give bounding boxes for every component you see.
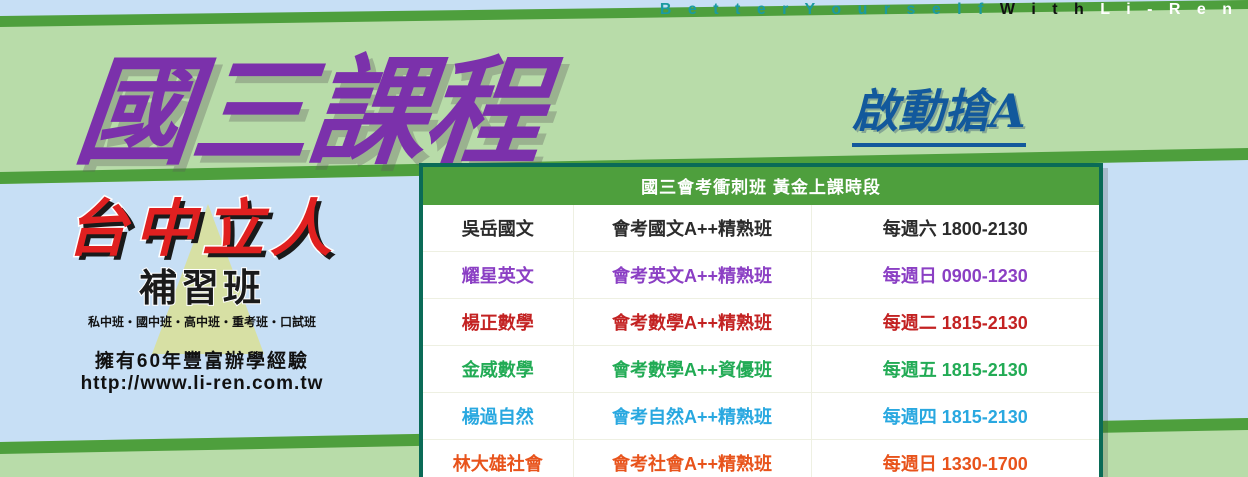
tagline-part-li-ren: L i - R e n bbox=[1100, 1, 1238, 18]
schedule-cell-teacher: 耀星英文 bbox=[423, 252, 573, 299]
schedule-cell-course: 會考社會A++精熟班 bbox=[573, 440, 811, 477]
logo-course-list: 私中班・國中班・高中班・重考班・口試班 bbox=[22, 313, 382, 330]
schedule-cell-teacher: 金威數學 bbox=[423, 346, 573, 393]
page-subtitle: 啟動搶A bbox=[852, 75, 1026, 147]
table-row: 耀星英文會考英文A++精熟班每週日 0900-1230 bbox=[423, 252, 1099, 299]
table-row: 金威數學會考數學A++資優班每週五 1815-2130 bbox=[423, 346, 1099, 393]
schedule-cell-course: 會考國文A++精熟班 bbox=[573, 205, 811, 252]
promo-banner: B e t t e r Y o u r s e l f W i t h L i … bbox=[0, 0, 1248, 477]
schedule-cell-course: 會考數學A++精熟班 bbox=[573, 299, 811, 346]
schedule-cell-teacher: 楊正數學 bbox=[423, 299, 573, 346]
schedule-header-title: 國三會考衝刺班 黃金上課時段 bbox=[423, 167, 1099, 205]
schedule-table-body: 吳岳國文會考國文A++精熟班每週六 1800-2130耀星英文會考英文A++精熟… bbox=[423, 205, 1099, 477]
logo-school-name: 台中立人 bbox=[22, 196, 382, 261]
schedule-cell-teacher: 楊過自然 bbox=[423, 393, 573, 440]
logo-experience: 擁有60年豐富辦學經驗 bbox=[22, 346, 382, 373]
page-title: 國三課程 bbox=[69, 16, 551, 187]
table-row: 吳岳國文會考國文A++精熟班每週六 1800-2130 bbox=[423, 205, 1099, 252]
schedule-cell-course: 會考自然A++精熟班 bbox=[573, 393, 811, 440]
brand-tagline: B e t t e r Y o u r s e l f W i t h L i … bbox=[660, 1, 1238, 19]
tagline-part-better-yourself: B e t t e r Y o u r s e l f bbox=[660, 1, 989, 18]
schedule-cell-teacher: 吳岳國文 bbox=[423, 205, 573, 252]
schedule-cell-teacher: 林大雄社會 bbox=[423, 440, 573, 477]
logo-website-url[interactable]: http://www.li-ren.com.tw bbox=[22, 373, 382, 395]
schedule-cell-time: 每週二 1815-2130 bbox=[811, 299, 1099, 346]
table-row: 林大雄社會會考社會A++精熟班每週日 1330-1700 bbox=[423, 440, 1099, 477]
schedule-header-row: 國三會考衝刺班 黃金上課時段 bbox=[423, 167, 1099, 205]
schedule-cell-time: 每週日 1330-1700 bbox=[811, 440, 1099, 477]
schedule-cell-course: 會考數學A++資優班 bbox=[573, 346, 811, 393]
schedule-cell-time: 每週四 1815-2130 bbox=[811, 393, 1099, 440]
schedule-table: 國三會考衝刺班 黃金上課時段 吳岳國文會考國文A++精熟班每週六 1800-21… bbox=[423, 167, 1099, 477]
logo-school-type: 補習班 bbox=[22, 257, 382, 312]
schedule-table-container: 國三會考衝刺班 黃金上課時段 吳岳國文會考國文A++精熟班每週六 1800-21… bbox=[419, 163, 1103, 477]
schedule-cell-course: 會考英文A++精熟班 bbox=[573, 252, 811, 299]
schedule-table-head: 國三會考衝刺班 黃金上課時段 bbox=[423, 167, 1099, 205]
schedule-cell-time: 每週五 1815-2130 bbox=[811, 346, 1099, 393]
schedule-cell-time: 每週日 0900-1230 bbox=[811, 252, 1099, 299]
table-row: 楊正數學會考數學A++精熟班每週二 1815-2130 bbox=[423, 299, 1099, 346]
table-row: 楊過自然會考自然A++精熟班每週四 1815-2130 bbox=[423, 393, 1099, 440]
tagline-part-with: W i t h bbox=[1000, 1, 1090, 18]
schedule-cell-time: 每週六 1800-2130 bbox=[811, 205, 1099, 252]
school-logo: 台中立人 補習班 私中班・國中班・高中班・重考班・口試班 擁有60年豐富辦學經驗… bbox=[22, 196, 382, 395]
